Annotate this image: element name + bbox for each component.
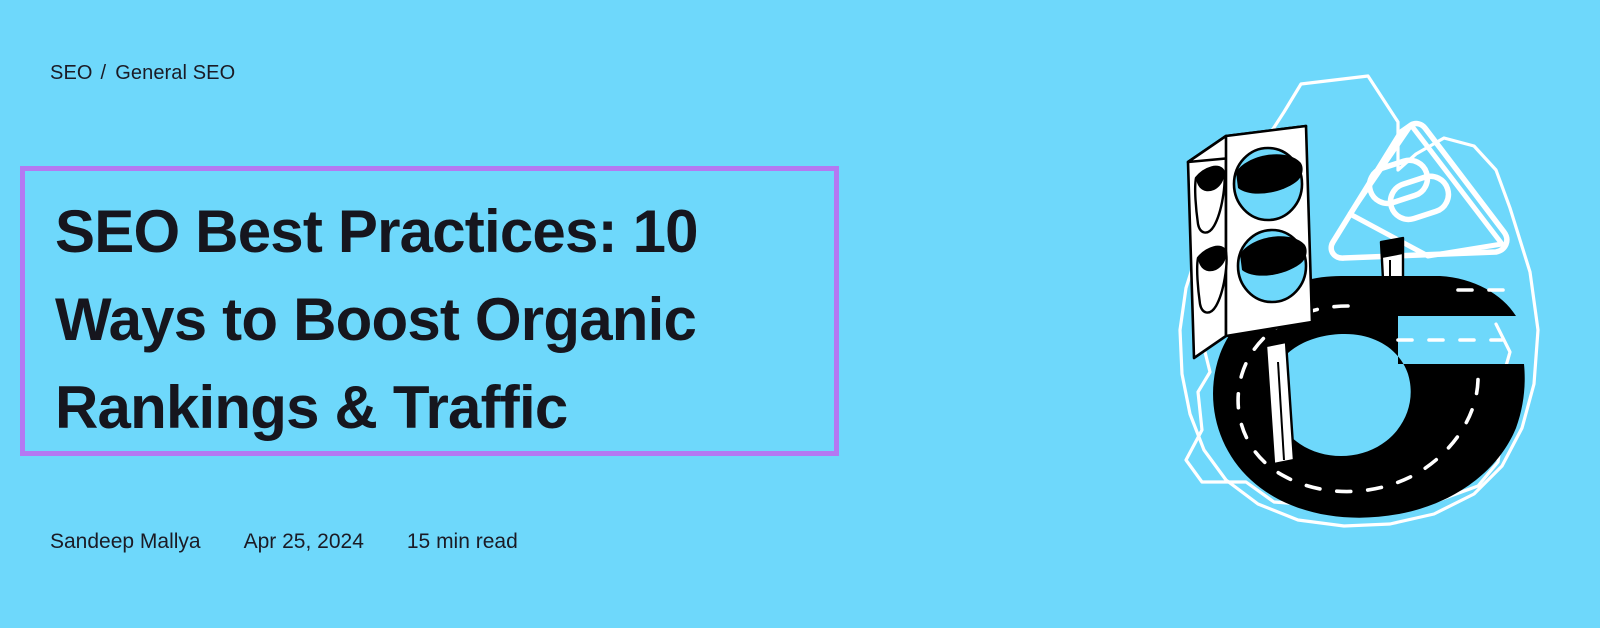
title-highlight-box: SEO Best Practices: 10 Ways to Boost Org… — [20, 166, 839, 456]
article-meta: Sandeep Mallya Apr 25, 2024 15 min read — [50, 528, 518, 556]
illustration-svg — [1098, 62, 1578, 562]
publish-date: Apr 25, 2024 — [244, 528, 364, 556]
breadcrumb: SEO / General SEO — [50, 60, 235, 86]
seo-traffic-light-road-illustration — [1098, 62, 1578, 562]
breadcrumb-separator-icon: / — [101, 60, 107, 86]
traffic-light-lamp-bottom — [1238, 230, 1307, 302]
triangular-link-sign — [1331, 124, 1507, 259]
article-hero-banner: SEO / General SEO SEO Best Practices: 10… — [0, 0, 1600, 628]
read-time: 15 min read — [407, 528, 518, 556]
page-title: SEO Best Practices: 10 Ways to Boost Org… — [55, 188, 815, 452]
traffic-light-lamp-top — [1234, 148, 1303, 220]
breadcrumb-item-seo[interactable]: SEO — [50, 60, 93, 86]
author-name[interactable]: Sandeep Mallya — [50, 528, 201, 556]
breadcrumb-item-general-seo[interactable]: General SEO — [115, 60, 235, 86]
